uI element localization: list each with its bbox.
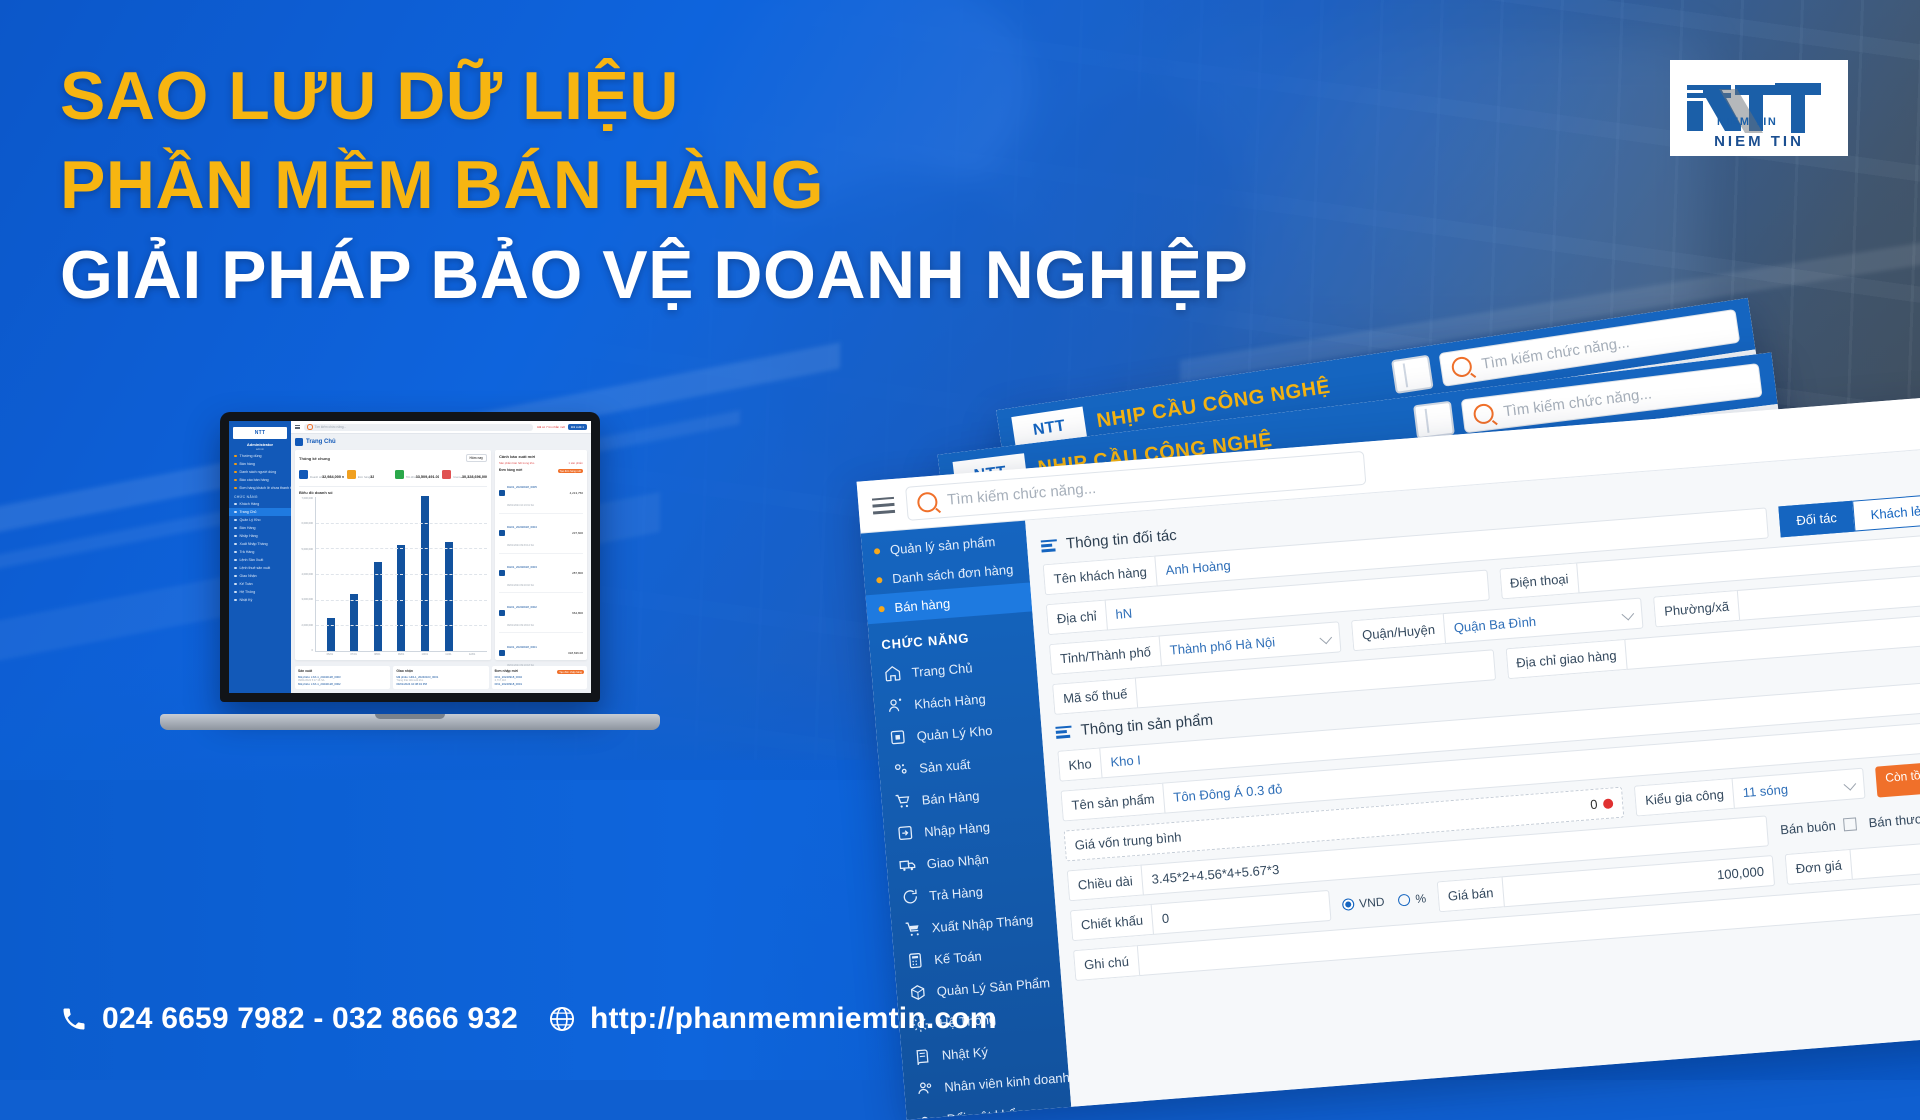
sales-bar-chart: 7,000,0006,000,0005,000,0004,000,0003,00…: [299, 497, 487, 652]
currency-percent-label: %: [1415, 891, 1427, 906]
orders-subtitle-left: Sản phẩm bán hết trong kho: [499, 461, 534, 465]
list-icon: [1041, 539, 1058, 552]
orders-card-title: Cảnh báo xuất mới: [499, 454, 535, 459]
currency-vnd-label: VND: [1359, 894, 1385, 910]
stat-label: Đơn hàng: [358, 475, 370, 479]
y-tick-label: 6,000,000: [299, 522, 313, 525]
x-tick-label: 11/01: [445, 653, 451, 656]
bottom-card-title: Đơn nhập mới: [495, 669, 518, 673]
sidebar-group-label: Thường dùng: [240, 454, 262, 458]
province-label: Tỉnh/Thành phố: [1049, 636, 1161, 676]
menu-icon: [234, 591, 237, 594]
dashboard-user: Administrator admin: [229, 442, 291, 451]
sidebar-menu-label: Nhập Hàng: [240, 534, 258, 538]
menu-icon: [234, 527, 237, 530]
partner-type-toggle[interactable]: Đối tác Khách lẻ: [1778, 494, 1920, 537]
stat-label: Tồn kho: [406, 475, 416, 479]
grid-line: [316, 625, 487, 626]
panel-quick-label: Quản lý sản phẩm: [889, 534, 995, 557]
logo-subtitle: NIEM TIN: [1670, 133, 1848, 150]
bullet-icon: [234, 479, 237, 482]
unit-price-label: Đơn giá: [1785, 849, 1852, 885]
discount-label: Chiết khấu: [1070, 904, 1153, 941]
sidebar-menu-label: Hệ Thống: [240, 590, 256, 594]
phone-icon: [60, 1005, 88, 1033]
sidebar-menu-item[interactable]: Kế Toán: [229, 580, 291, 588]
sidebar-menu-label: Xuất Nhập Tháng: [240, 542, 268, 546]
chart-bar[interactable]: [327, 618, 335, 651]
order-date: 09/01/2024 09:18:16 SA: [507, 624, 534, 627]
bottom-card: Sản xuấtMã phiếu: LSX-1_20240128_000309/…: [295, 666, 390, 689]
search-icon: [917, 491, 939, 513]
ward-value[interactable]: [1737, 574, 1920, 621]
book-icon: [913, 1047, 932, 1066]
bullet-icon: [874, 548, 880, 554]
dashboard-row: Thống kê chung Hôm nay Doanh số32,984,00…: [295, 450, 587, 660]
panel-quick-label: Bán hàng: [894, 596, 951, 615]
panel-menu-label: Đổi mật khẩu: [946, 1105, 1024, 1120]
bottom-card: Giao nhậnMã phiếu: HDL1_20240103_0001Trạ…: [393, 666, 488, 689]
sidebar-quick-label: Đơn hàng khách lẻ chưa thanh toán hết: [240, 486, 292, 490]
sidebar-menu-label: Khách Hàng: [240, 502, 260, 506]
menu-icon: [234, 599, 237, 602]
sidebar-toggle-icon[interactable]: [1413, 401, 1455, 439]
sidebar-menu-label: Quản Lý Kho: [240, 518, 261, 522]
unit-price-field[interactable]: Đơn giá: [1785, 840, 1920, 885]
panel-menu-label: Xuất Nhập Tháng: [931, 912, 1034, 935]
sidebar-menu-item[interactable]: Bán Hàng: [229, 524, 291, 532]
sidebar-quick-item[interactable]: Đơn hàng khách lẻ chưa thanh toán hết: [229, 484, 291, 492]
panel-front-body: Quản lý sản phẩmDanh sách đơn hàngBán hà…: [861, 448, 1920, 1120]
sidebar-quick-label: Bán hàng: [240, 462, 255, 466]
order-value: 237,600: [572, 531, 583, 535]
order-value: 287,800: [572, 571, 583, 575]
contact-bar: 024 6659 7982 - 032 8666 932 http://phan…: [60, 1002, 997, 1036]
bottom-card-line3: DN1_20240918_0001: [495, 682, 584, 686]
stat-value: 32,984,000 vnđ: [322, 475, 344, 479]
stat-value: -30,328,696,000: [461, 475, 487, 479]
sidebar-menu-label: Trả Hàng: [240, 550, 255, 554]
laptop-mockup: NTT Administrator admin Thường dùng Bán …: [160, 412, 660, 730]
sidebar-menu-label: Lệnh Sản Xuất: [240, 558, 264, 562]
sidebar-menu-item[interactable]: Lệnh Sản Xuất: [229, 556, 291, 564]
sidebar-menu-item[interactable]: Xuất Nhập Tháng: [229, 540, 291, 548]
trade-label-group: Bán thương mại: [1867, 800, 1920, 838]
bottom-card-title: Sản xuất: [298, 669, 312, 673]
orders-card-header: Cảnh báo xuất mới: [499, 454, 583, 459]
sidebar-menu-label: Kế Toán: [240, 582, 253, 586]
currency-vnd-option[interactable]: VND: [1342, 894, 1385, 911]
order-value: 664,800: [572, 611, 583, 615]
y-tick-label: 3,000,000: [299, 598, 313, 601]
menu-icon: [234, 503, 237, 506]
panel-mid-search-placeholder: Tìm kiếm chức năng...: [1502, 385, 1652, 420]
wholesale-checkbox-group[interactable]: Bán buôn: [1779, 808, 1858, 845]
sidebar-menu-item[interactable]: Trang Chủ: [229, 508, 291, 516]
x-tick-label: 07/01: [350, 653, 357, 656]
bottom-card-title: Giao nhận: [396, 669, 413, 673]
delivery-label: Địa chỉ giao hàng: [1505, 639, 1627, 679]
sidebar-menu-item[interactable]: Quản Lý Kho: [229, 516, 291, 524]
price-label: Giá bán: [1437, 876, 1504, 912]
panel-menu-label: Sản xuất: [919, 756, 971, 775]
district-value: Quận Ba Đình: [1453, 614, 1536, 635]
y-tick-label: 7,000,000: [299, 497, 313, 500]
grid-line: [316, 600, 487, 601]
sidebar-toggle-icon[interactable]: [1391, 355, 1434, 394]
toggle-partner[interactable]: Đối tác: [1778, 501, 1855, 538]
chevron-down-icon: [1319, 632, 1332, 645]
customer-name-label: Tên khách hàng: [1043, 556, 1157, 596]
stat-label: Users: [453, 475, 460, 479]
panel-menu-label: Quản Lý Sản Phẩm: [936, 975, 1050, 999]
dashboard-logo-text: NTT: [255, 430, 266, 436]
chart-y-axis: 7,000,0006,000,0005,000,0004,000,0003,00…: [299, 497, 315, 652]
order-code: DH01_20240918_0001: [507, 645, 537, 649]
length-label: Chiều dài: [1067, 865, 1143, 902]
tilted-panels: NTT NHỊP CẦU CÔNG NGHỆ Tìm kiếm chức năn…: [880, 330, 1920, 1090]
sidebar-menu-label: Nhật Ký: [240, 598, 253, 602]
cash-icon: [299, 470, 308, 479]
dashboard-user-role: admin: [229, 447, 291, 451]
panel-menu-label: Giao Nhận: [926, 851, 989, 871]
order-date: 09/01/2024 10:13:31 SA: [507, 504, 534, 507]
order-icon: [499, 530, 505, 536]
laptop-screen: NTT Administrator admin Thường dùng Bán …: [229, 421, 591, 693]
panel-back-logo-text: NTT: [1032, 417, 1067, 440]
process-label: Kiểu gia công: [1634, 778, 1734, 817]
product-name-label: Tên sản phẩm: [1060, 783, 1164, 822]
chart-bar[interactable]: [350, 594, 358, 651]
panel-quick-label: Danh sách đơn hàng: [892, 562, 1014, 586]
dashboard-search-input[interactable]: Tìm kiếm chức năng...: [304, 424, 533, 431]
sidebar-section-label: CHỨC NĂNG: [229, 492, 291, 500]
grid-line: [316, 574, 487, 575]
panel-front-search-placeholder: Tìm kiếm chức năng...: [947, 480, 1097, 509]
phone-label: Điện thoại: [1499, 563, 1579, 600]
dashboard-main: Tìm kiếm chức năng... Đã có 7 tin nhắn m…: [291, 421, 591, 693]
sidebar-menu-label: Lệnh thuê sản xuất: [240, 566, 271, 570]
headline-line-1: SAO LƯU DỮ LIỆU: [60, 62, 1248, 131]
user-plus-icon: [886, 696, 905, 715]
sidebar-menu-item[interactable]: Nhật Ký: [229, 596, 291, 604]
trade-label: Bán thương mại: [1868, 808, 1920, 830]
headline-line-2: PHẦN MỀM BÁN HÀNG: [60, 151, 1248, 220]
sidebar-menu-label: Giao Nhận: [240, 574, 257, 578]
partner-section-title: Thông tin đối tác: [1065, 527, 1177, 553]
sidebar-quick-label: Báo cáo bán hàng: [240, 478, 269, 482]
sidebar-quick-list: Bán hàngDanh sách người dùngBáo cáo bán …: [229, 460, 291, 492]
menu-icon: [234, 583, 237, 586]
district-value-wrap[interactable]: Quận Ba Đình: [1443, 598, 1644, 645]
panel-menu-label: Quản Lý Kho: [916, 722, 993, 743]
menu-icon: [234, 575, 237, 578]
y-tick-label: 4,000,000: [299, 573, 313, 576]
menu-icon: [234, 543, 237, 546]
bullet-icon: [234, 455, 237, 458]
search-icon: [307, 424, 313, 430]
chart-x-axis: 06/0107/0108/0109/0110/0111/0112/01: [299, 652, 487, 656]
panel-sidebar-quick-list: Quản lý sản phẩmDanh sách đơn hàngBán hà…: [861, 525, 1032, 625]
toggle-retail[interactable]: Khách lẻ: [1853, 494, 1920, 532]
orders-card: Cảnh báo xuất mới Sản phẩm bán hết trong…: [495, 450, 587, 660]
menu-icon: [234, 567, 237, 570]
stat-item: Đơn hàng32: [347, 465, 392, 483]
key-icon: [918, 1110, 937, 1119]
page-title: Trang Chủ: [295, 438, 587, 446]
sidebar-menu-item[interactable]: Trả Hàng: [229, 548, 291, 556]
order-date: 09/01/2024 09:20:02 SA: [507, 584, 534, 587]
sidebar-quick-label: Danh sách người dùng: [240, 470, 277, 474]
process-value-wrap[interactable]: 11 sóng: [1732, 768, 1866, 809]
hamburger-icon[interactable]: [872, 496, 895, 514]
search-icon: [1450, 356, 1473, 379]
package-icon: [908, 983, 927, 1002]
panel-menu-label: Nhật Ký: [941, 1044, 988, 1063]
bullet-icon: [876, 577, 882, 583]
chart-bar[interactable]: [397, 545, 405, 651]
period-select[interactable]: Hôm nay: [466, 454, 487, 462]
home-icon: [883, 664, 902, 683]
order-code: DH01_20240918_0005: [507, 485, 537, 489]
order-value: 4,213,750: [570, 491, 583, 495]
sidebar-menu-item[interactable]: Lệnh thuê sản xuất: [229, 564, 291, 572]
menu-icon: [234, 559, 237, 562]
laptop-base: [160, 714, 660, 730]
chart-title: Biểu đồ doanh số: [299, 490, 487, 495]
wholesale-label: Bán buôn: [1780, 818, 1837, 837]
order-date: 09/01/2024 09:33:14 SA: [507, 544, 534, 547]
order-code: DH01_20240918_0002: [507, 605, 537, 609]
alert-dot-icon: [1603, 798, 1614, 809]
order-row[interactable]: DH01_20240918_000309/01/2024 09:20:02 SA…: [499, 554, 583, 594]
phone-contact[interactable]: 024 6659 7982 - 032 8666 932: [60, 1002, 518, 1036]
import-icon: [896, 823, 915, 842]
currency-radio-group[interactable]: VND %: [1341, 882, 1427, 919]
box-icon: [888, 728, 907, 747]
sidebar-menu-item[interactable]: Nhập Hàng: [229, 532, 291, 540]
bottom-card-line3: 09/01/2024 10:38:43 PM: [396, 682, 485, 686]
stats-card-header: Thống kê chung Hôm nay: [299, 454, 487, 462]
address-label: Địa chỉ: [1046, 600, 1107, 636]
sidebar-menu-item[interactable]: Khách Hàng: [229, 500, 291, 508]
bullet-icon: [234, 487, 237, 490]
dashboard-sidebar: NTT Administrator admin Thường dùng Bán …: [229, 421, 291, 693]
panel-menu-label: Bán Hàng: [921, 788, 980, 807]
stat-item: Users-30,328,696,000: [442, 465, 487, 483]
bullet-icon: [234, 471, 237, 474]
bottom-card: Đơn nhập mớiTạo đơn nhập hàngDN1_2024091…: [492, 666, 587, 689]
cart-arrow-icon: [903, 919, 922, 938]
orders-subtitle-right: 1 sản phẩm: [568, 461, 583, 465]
sidebar-menu-label: Trang Chủ: [240, 510, 257, 514]
website-text: http://phanmemniemtin.com: [590, 1002, 997, 1036]
grid-line: [316, 523, 487, 524]
cart-icon: [893, 791, 912, 810]
panel-menu-label: Kế Toán: [934, 948, 982, 967]
phone-text: 024 6659 7982 - 032 8666 932: [102, 1002, 518, 1036]
create-order-button[interactable]: Tạo đơn hàng mới: [558, 469, 583, 474]
menu-icon: [234, 519, 237, 522]
home-icon: [295, 438, 303, 446]
alert-text[interactable]: Đã có 7 tin nhắn mới: [537, 425, 565, 429]
panel-back-search-placeholder: Tìm kiếm chức năng...: [1480, 334, 1630, 373]
menu-icon: [234, 511, 237, 514]
y-tick-label: 5,000,000: [299, 548, 313, 551]
radio-on-icon: [1342, 898, 1355, 911]
order-value: 318,636.00: [568, 651, 583, 655]
sidebar-quick-item[interactable]: Bán hàng: [229, 460, 291, 468]
tax-label: Mã số thuế: [1052, 677, 1138, 714]
product-name-value: Tôn Đông Á 0.3 đỏ: [1173, 781, 1283, 805]
province-value: Thành phố Hà Nội: [1169, 634, 1275, 657]
stock-status-badge: Còn tồn kho: [1875, 760, 1920, 797]
order-row[interactable]: DH01_20240918_000409/01/2024 09:33:14 SA…: [499, 514, 583, 554]
ward-label: Phường/xã: [1653, 590, 1739, 627]
bottom-cards-row: Sản xuấtMã phiếu: LSX-1_20240128_000309/…: [295, 666, 587, 689]
radio-off-icon: [1398, 893, 1411, 906]
x-tick-label: 06/01: [327, 653, 334, 656]
stat-item: Tồn kho33,509,491.0175: [395, 465, 440, 483]
y-tick-label: 2,000,000: [299, 624, 313, 627]
panel-menu-label: Trả Hàng: [929, 884, 984, 903]
order-icon: [499, 650, 505, 656]
order-icon: [499, 490, 505, 496]
menu-icon: [234, 535, 237, 538]
chart-plot-area: [315, 497, 487, 652]
x-tick-label: 08/01: [374, 653, 381, 656]
avg-cost-value: 0: [1590, 797, 1598, 813]
order-icon: [499, 610, 505, 616]
province-value-wrap[interactable]: Thành phố Hà Nội: [1159, 621, 1342, 666]
company-logo: NIEM TIN NIEM TIN: [1670, 60, 1848, 156]
chart-bar[interactable]: [445, 542, 453, 651]
chevron-down-icon: [1844, 778, 1857, 791]
currency-percent-option[interactable]: %: [1398, 891, 1427, 907]
chevron-down-icon: [1621, 608, 1634, 621]
calculator-icon: [906, 951, 925, 970]
unit-price-value[interactable]: [1850, 840, 1920, 880]
people-icon: [916, 1079, 935, 1098]
box-icon: [395, 470, 404, 479]
orders-list-title: Đơn hàng mới: [499, 468, 522, 472]
stats-row: Doanh số32,984,000 vnđĐơn hàng32Tồn kho3…: [299, 465, 487, 487]
dashboard-topbar: Tìm kiếm chức năng... Đã có 7 tin nhắn m…: [291, 421, 591, 434]
bullet-icon: [234, 463, 237, 466]
bottom-card-action[interactable]: Tạo đơn nhập hàng: [557, 670, 584, 675]
stats-chart-card: Thống kê chung Hôm nay Doanh số32,984,00…: [295, 450, 491, 660]
truck-icon: [898, 855, 917, 874]
sidebar-group-frequent[interactable]: Thường dùng: [229, 452, 291, 460]
menu-icon: [234, 551, 237, 554]
sidebar-quick-item[interactable]: Báo cáo bán hàng: [229, 476, 291, 484]
process-value: 11 sóng: [1742, 782, 1788, 801]
page-title-text: Trang Chủ: [306, 439, 336, 445]
bullet-icon: [878, 605, 884, 611]
discount-value[interactable]: 0: [1151, 890, 1332, 935]
orders-list: DH01_20240918_000509/01/2024 10:13:31 SA…: [499, 474, 583, 673]
dashboard-body: Trang Chủ Thống kê chung Hôm nay Doanh s…: [291, 434, 591, 693]
panel-menu-label: Trang Chủ: [911, 660, 973, 680]
globe-icon: [548, 1005, 576, 1033]
headline-line-3: GIẢI PHÁP BẢO VỆ DOANH NGHIỆP: [60, 241, 1248, 310]
avg-cost-label: Giá vốn trung bình: [1074, 829, 1182, 852]
avg-cost-value-wrap: 0: [1590, 795, 1614, 812]
panel-menu-label: Nhập Hàng: [924, 819, 991, 839]
stat-value: 32: [370, 475, 374, 479]
x-tick-label: 10/01: [422, 653, 429, 656]
search-icon: [1472, 403, 1494, 425]
gear-icon: [891, 760, 910, 779]
order-icon: [347, 470, 356, 479]
hamburger-icon[interactable]: [295, 425, 300, 429]
warehouse-label: Kho: [1057, 748, 1101, 782]
list-icon: [1055, 725, 1072, 738]
sidebar-quick-item[interactable]: Danh sách người dùng: [229, 468, 291, 476]
stat-item: Doanh số32,984,000 vnđ: [299, 465, 344, 483]
sidebar-menu-list: Khách HàngTrang ChủQuản Lý KhoBán HàngNh…: [229, 500, 291, 604]
grid-line: [316, 548, 487, 549]
panel-menu-label: Khách Hàng: [914, 691, 987, 712]
bottom-card-line3: Mã phiếu: LSX-1_20240128_0002: [298, 682, 387, 686]
user-chip[interactable]: Đã xuất 1: [568, 424, 587, 430]
dashboard-topbar-right: Đã có 7 tin nhắn mới Đã xuất 1: [537, 424, 587, 430]
headline-block: SAO LƯU DỮ LIỆU PHẦN MỀM BÁN HÀNG GIẢI P…: [60, 62, 1248, 310]
note-label: Ghi chú: [1073, 945, 1139, 981]
stat-label: Doanh số: [310, 475, 322, 479]
order-code: DH01_20240918_0004: [507, 525, 537, 529]
order-row[interactable]: DH01_20240918_000209/01/2024 09:18:16 SA…: [499, 593, 583, 633]
stat-value: 33,509,491.0175: [416, 475, 440, 479]
district-label: Quận/Huyện: [1351, 613, 1445, 651]
laptop-lid: NTT Administrator admin Thường dùng Bán …: [220, 412, 600, 702]
order-row[interactable]: DH01_20240918_000509/01/2024 10:13:31 SA…: [499, 474, 583, 514]
panel-form-content: Thông tin đối tác Tên khách hàng Anh Hoà…: [1025, 448, 1920, 1107]
wholesale-checkbox[interactable]: [1843, 817, 1857, 831]
chart-bar[interactable]: [374, 562, 382, 651]
order-code: DH01_20240918_0003: [507, 565, 537, 569]
website-contact[interactable]: http://phanmemniemtin.com: [548, 1002, 997, 1036]
panel-front: Tìm kiếm chức năng... Quản lý sản phẩmDa…: [857, 396, 1920, 1120]
x-tick-label: 09/01: [398, 653, 405, 656]
stats-card-title: Thống kê chung: [299, 456, 330, 461]
dashboard-search-placeholder: Tìm kiếm chức năng...: [315, 425, 347, 429]
x-tick-label: 12/01: [469, 653, 476, 656]
panel-menu-label: Nhân viên kinh doanh: [944, 1069, 1071, 1094]
product-section-title: Thông tin sản phẩm: [1080, 712, 1214, 739]
user-icon: [442, 470, 451, 479]
sidebar-menu-item[interactable]: Giao Nhận: [229, 572, 291, 580]
order-icon: [499, 570, 505, 576]
dashboard-logo: NTT: [233, 427, 287, 439]
sidebar-menu-label: Bán Hàng: [240, 526, 256, 530]
sidebar-menu-item[interactable]: Hệ Thống: [229, 588, 291, 596]
return-icon: [901, 887, 920, 906]
svg-text:NIEM TIN: NIEM TIN: [1717, 116, 1777, 128]
